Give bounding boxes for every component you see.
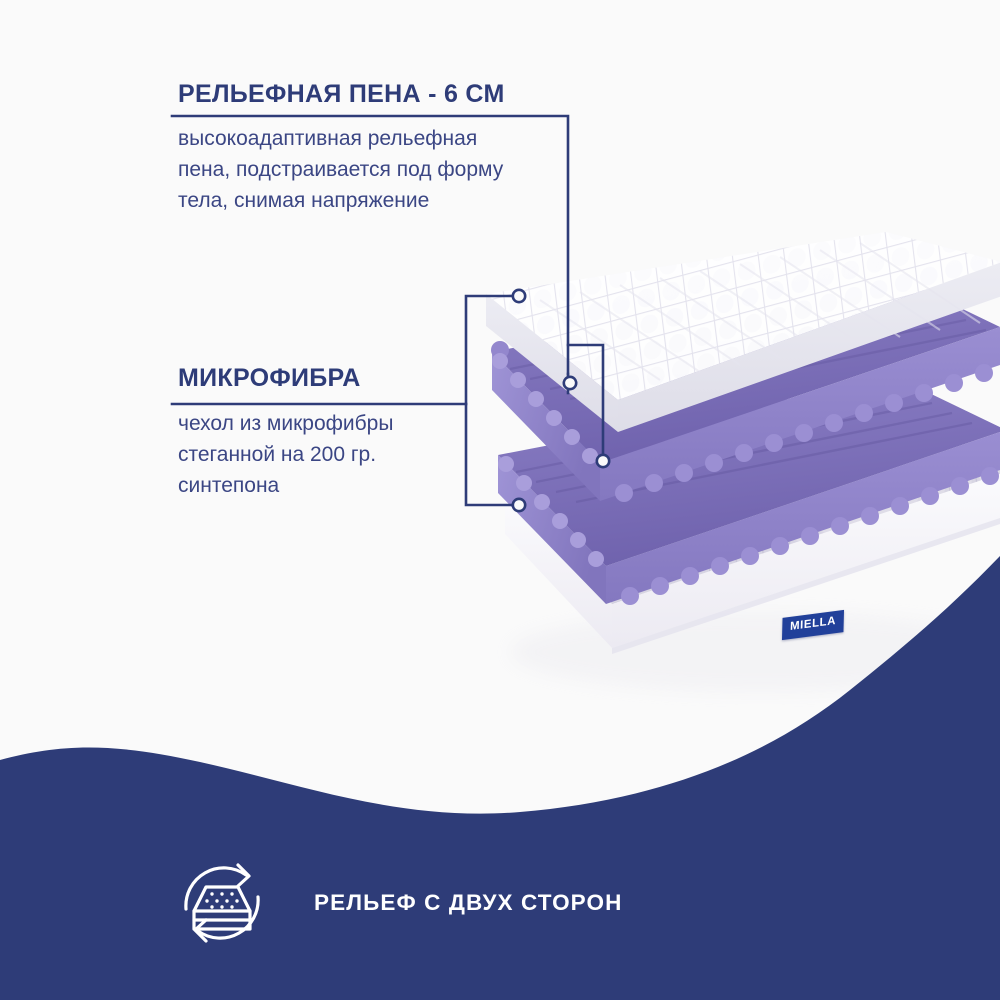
mattress-rotate-icon bbox=[170, 851, 274, 955]
feature-row: РЕЛЬЕФ С ДВУХ СТОРОН bbox=[170, 849, 622, 957]
callout-microfiber-body: чехол из микрофибры стеганной на 200 гр.… bbox=[178, 409, 478, 502]
callout-foam-title: РЕЛЬЕФНАЯ ПЕНА - 6 СМ bbox=[178, 82, 578, 107]
endpoint-cover-top bbox=[513, 290, 525, 302]
callout-foam-body: высокоадаптивная рельефная пена, подстра… bbox=[178, 124, 508, 217]
callout-microfiber: МИКРОФИБРА чехол из микрофибры стеганной… bbox=[178, 366, 518, 502]
endpoint-foam-upper bbox=[564, 377, 576, 389]
endpoint-foam-lower bbox=[597, 455, 609, 467]
callout-foam: РЕЛЬЕФНАЯ ПЕНА - 6 СМ высокоадаптивная р… bbox=[178, 82, 578, 217]
infographic-canvas: MIELLA РЕЛЬЕФНАЯ ПЕНА - 6 СМ высокоадапт… bbox=[0, 0, 1000, 1000]
callout-microfiber-title: МИКРОФИБРА bbox=[178, 366, 518, 391]
feature-label: РЕЛЬЕФ С ДВУХ СТОРОН bbox=[314, 890, 622, 916]
